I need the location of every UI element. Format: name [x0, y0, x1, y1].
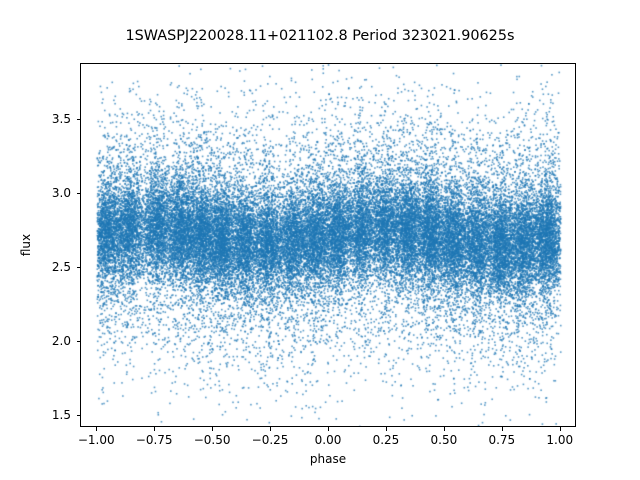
x-tick-label: 0.75 [488, 433, 515, 447]
y-tick-label: 1.5 [52, 408, 71, 422]
x-tick-mark [270, 427, 271, 431]
x-tick-label: 1.00 [546, 433, 573, 447]
x-tick-label: 0.25 [373, 433, 400, 447]
page-title: 1SWASPJ220028.11+021102.8 Period 323021.… [0, 28, 640, 44]
x-tick-label: −0.75 [136, 433, 173, 447]
x-tick-mark [328, 427, 329, 431]
x-tick-label: −1.00 [78, 433, 115, 447]
x-tick-label: 0.50 [431, 433, 458, 447]
x-tick-mark [560, 427, 561, 431]
scatter-series [81, 64, 576, 427]
y-tick-label: 2.0 [52, 334, 71, 348]
x-tick-mark [444, 427, 445, 431]
y-tick-mark [77, 193, 81, 194]
y-tick-label: 2.5 [52, 260, 71, 274]
y-tick-label: 3.0 [52, 186, 71, 200]
x-tick-label: −0.50 [194, 433, 231, 447]
x-tick-mark [154, 427, 155, 431]
y-tick-mark [77, 341, 81, 342]
plot-axes [80, 63, 576, 427]
x-tick-label: 0.00 [315, 433, 342, 447]
x-tick-label: −0.25 [252, 433, 289, 447]
y-axis-label: flux [19, 234, 33, 256]
figure-canvas: 1SWASPJ220028.11+021102.8 Period 323021.… [0, 0, 640, 480]
x-tick-mark [96, 427, 97, 431]
y-tick-mark [77, 415, 81, 416]
x-tick-mark [386, 427, 387, 431]
y-tick-mark [77, 119, 81, 120]
y-tick-label: 3.5 [52, 112, 71, 126]
x-tick-mark [212, 427, 213, 431]
x-tick-mark [502, 427, 503, 431]
y-tick-mark [77, 267, 81, 268]
x-axis-label: phase [80, 452, 576, 466]
